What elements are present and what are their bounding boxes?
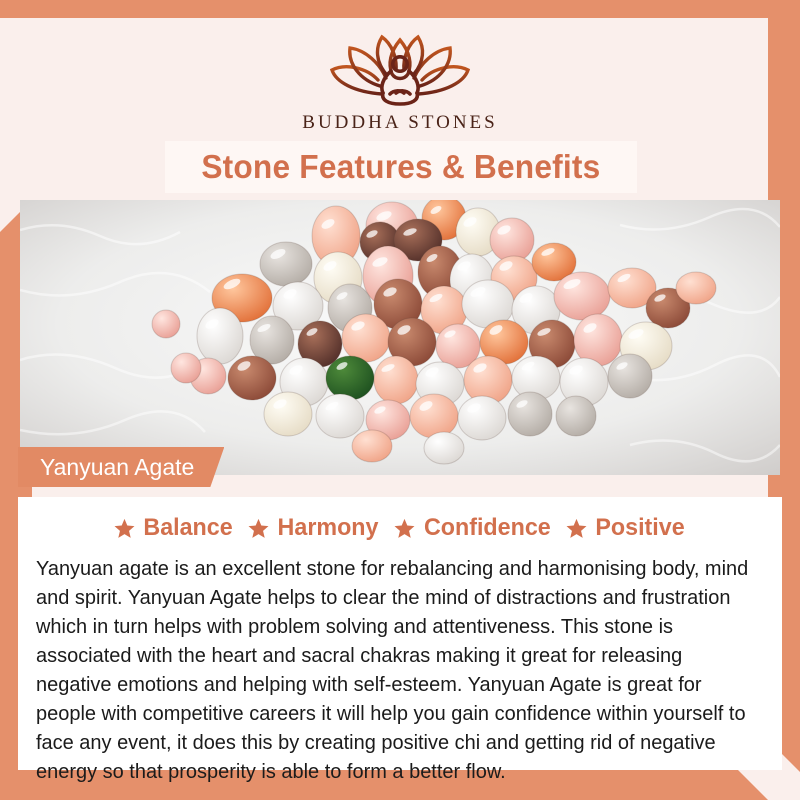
brand-name: BUDDHA STONES [302, 112, 497, 134]
content-panel: Balance Harmony Confidence [18, 497, 782, 770]
keyword-label: Positive [596, 514, 685, 542]
keyword-item: Balance [114, 514, 234, 542]
stone-name-badge: Yanyuan Agate [18, 447, 224, 487]
keyword-list: Balance Harmony Confidence [32, 507, 768, 549]
keyword-label: Confidence [424, 514, 551, 542]
brand-header: BUDDHA STONES [0, 0, 800, 140]
keyword-item: Harmony [248, 514, 380, 542]
keyword-label: Balance [143, 514, 232, 542]
stone-name-label: Yanyuan Agate [40, 454, 194, 481]
star-icon [114, 518, 135, 539]
star-icon [394, 518, 415, 539]
hero-image [20, 200, 780, 475]
star-icon [248, 518, 269, 539]
stone-description: Yanyuan agate is an excellent stone for … [36, 555, 757, 787]
star-icon [566, 518, 587, 539]
keyword-item: Confidence [394, 514, 553, 542]
poster-root: BUDDHA STONES Stone Features & Benefits [0, 0, 800, 800]
title-banner: Stone Features & Benefits [165, 141, 637, 193]
keyword-label: Harmony [277, 514, 378, 542]
page-title: Stone Features & Benefits [201, 148, 600, 186]
lotus-meditation-icon [320, 30, 480, 108]
keyword-item: Positive [566, 514, 686, 542]
